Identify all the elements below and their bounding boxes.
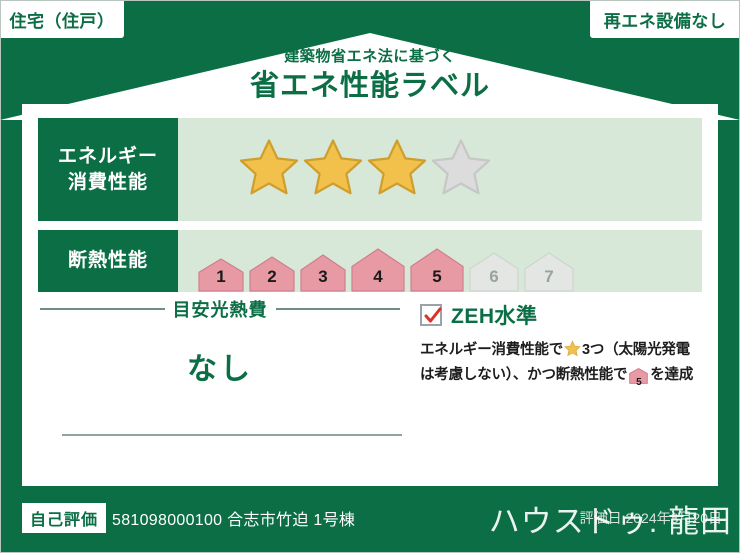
watermark: ハウスドゥ. 龍田 <box>489 496 732 541</box>
rule-left <box>40 308 165 310</box>
energy-label-line1: エネルギー <box>58 144 158 170</box>
star-filled-icon <box>366 137 428 202</box>
zeh-desc-part3: を達成 <box>650 367 693 383</box>
star-empty-icon <box>430 137 492 202</box>
insulation-level-filled: 1 <box>198 258 244 292</box>
zeh-desc-part2: は考慮しない）、かつ断熱性能で <box>420 367 627 383</box>
label-footer: 自己評価 581098000100 合志市竹迫 1号棟 評価日:2024年8月2… <box>0 490 740 553</box>
insulation-performance-row: 断熱性能 1234567 <box>38 230 702 292</box>
label-subtitle: 建築物省エネ法に基づく <box>0 48 740 66</box>
insulation-level-empty: 7 <box>524 252 574 292</box>
zeh-desc-star-count: 3つ（太陽光発電 <box>582 342 690 358</box>
inline-star-icon <box>564 345 581 361</box>
label-body-panel: エネルギー 消費性能 断熱性能 1234567 目安光熱費 なし <box>22 104 718 486</box>
utility-cost-header: 目安光熱費 <box>40 296 400 322</box>
insulation-level-filled: 5 <box>410 248 464 292</box>
insulation-performance-value-cell: 1234567 <box>178 230 702 292</box>
insulation-level-filled: 3 <box>300 254 346 292</box>
energy-label-line2: 消費性能 <box>68 170 148 196</box>
zeh-standard-block: ZEH水準 エネルギー消費性能で3つ（太陽光発電 は考慮しない）、かつ断熱性能で… <box>420 300 710 392</box>
star-filled-icon <box>238 137 300 202</box>
zeh-checkbox[interactable] <box>420 304 442 326</box>
utility-cost-bottom-rule <box>62 434 402 436</box>
utility-cost-title: 目安光熱費 <box>173 296 268 322</box>
insulation-level-filled: 2 <box>249 256 295 292</box>
rule-right <box>276 308 401 310</box>
check-icon <box>423 306 443 326</box>
label-title-block: 建築物省エネ法に基づく 省エネ性能ラベル <box>0 48 740 104</box>
insulation-level-empty: 6 <box>469 252 519 292</box>
property-info: 581098000100 合志市竹迫 1号棟 <box>112 506 355 530</box>
energy-performance-label-cell: エネルギー 消費性能 <box>38 118 178 221</box>
zeh-header: ZEH水準 <box>420 300 710 330</box>
building-type-tag: 住宅（住戸） <box>0 0 124 38</box>
insulation-level-scale: 1234567 <box>178 230 574 292</box>
energy-performance-value-cell <box>178 118 702 221</box>
renewable-equipment-tag: 再エネ設備なし <box>590 0 740 38</box>
zeh-description: エネルギー消費性能で3つ（太陽光発電 は考慮しない）、かつ断熱性能で5を達成 <box>420 339 710 392</box>
utility-cost-value: なし <box>40 344 400 388</box>
inline-house-number: 5 <box>629 375 648 391</box>
zeh-title: ZEH水準 <box>451 300 538 330</box>
inline-house-icon: 5 <box>629 368 648 391</box>
evaluation-type-badge: 自己評価 <box>22 503 106 533</box>
insulation-label: 断熱性能 <box>68 248 148 274</box>
energy-performance-row: エネルギー 消費性能 <box>38 118 702 221</box>
energy-performance-label: 住宅（住戸） 再エネ設備なし 建築物省エネ法に基づく 省エネ性能ラベル エネルギ… <box>0 0 740 553</box>
star-filled-icon <box>302 137 364 202</box>
insulation-level-filled: 4 <box>351 248 405 292</box>
zeh-desc-part1: エネルギー消費性能で <box>420 342 563 358</box>
page-title: 省エネ性能ラベル <box>0 68 740 104</box>
star-rating <box>178 137 492 202</box>
vertical-divider <box>404 292 406 472</box>
insulation-performance-label-cell: 断熱性能 <box>38 230 178 292</box>
